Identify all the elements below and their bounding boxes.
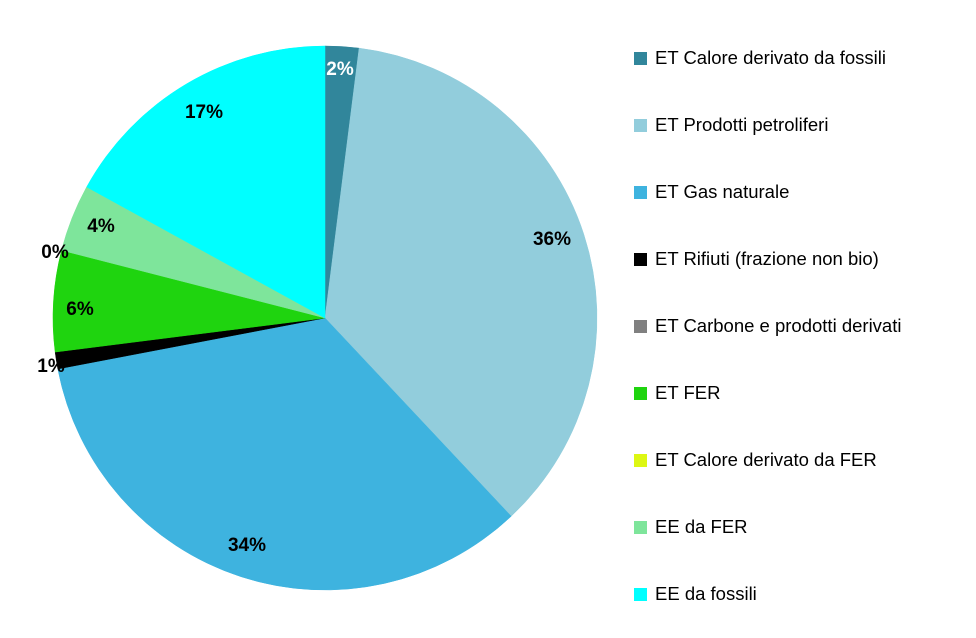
legend-swatch-icon <box>634 588 647 601</box>
legend-item[interactable]: EE da FER <box>634 516 748 538</box>
legend-item-label: ET FER <box>655 384 720 403</box>
chart-legend: ET Calore derivato da fossiliET Prodotti… <box>634 0 976 638</box>
legend-item[interactable]: ET Rifiuti (frazione non bio) <box>634 248 879 270</box>
legend-item-label: ET Carbone e prodotti derivati <box>655 317 901 336</box>
legend-item-label: ET Prodotti petroliferi <box>655 116 828 135</box>
pie-chart-plot-area: 2%36%34%1%6%0%4%17% <box>0 0 640 638</box>
legend-item-label: EE da fossili <box>655 585 757 604</box>
legend-item-label: ET Gas naturale <box>655 183 789 202</box>
legend-item[interactable]: ET Gas naturale <box>634 181 789 203</box>
legend-item[interactable]: ET Prodotti petroliferi <box>634 114 828 136</box>
legend-item[interactable]: ET Calore derivato da FER <box>634 449 877 471</box>
pie-data-label: 0% <box>41 242 69 263</box>
legend-swatch-icon <box>634 387 647 400</box>
legend-swatch-icon <box>634 52 647 65</box>
pie-data-label: 36% <box>533 229 571 250</box>
legend-swatch-icon <box>634 186 647 199</box>
pie-chart-svg: 2%36%34%1%6%0%4%17% <box>0 0 640 638</box>
legend-item[interactable]: ET Carbone e prodotti derivati <box>634 315 901 337</box>
pie-data-label: 17% <box>185 102 223 123</box>
legend-item[interactable]: ET FER <box>634 382 720 404</box>
legend-item-label: ET Calore derivato da fossili <box>655 49 886 68</box>
legend-swatch-icon <box>634 454 647 467</box>
legend-item[interactable]: ET Calore derivato da fossili <box>634 47 886 69</box>
pie-data-label: 2% <box>326 59 354 80</box>
pie-data-label: 34% <box>228 535 266 556</box>
pie-data-label: 6% <box>66 299 94 320</box>
legend-item-label: EE da FER <box>655 518 748 537</box>
legend-item-label: ET Rifiuti (frazione non bio) <box>655 250 879 269</box>
legend-swatch-icon <box>634 521 647 534</box>
chart-page: 2%36%34%1%6%0%4%17% ET Calore derivato d… <box>0 0 976 638</box>
pie-data-label: 1% <box>37 356 65 377</box>
legend-item-label: ET Calore derivato da FER <box>655 451 877 470</box>
legend-item[interactable]: EE da fossili <box>634 583 757 605</box>
legend-swatch-icon <box>634 320 647 333</box>
legend-swatch-icon <box>634 119 647 132</box>
pie-data-label: 4% <box>87 216 115 237</box>
legend-swatch-icon <box>634 253 647 266</box>
pie-slice-group <box>53 46 597 590</box>
